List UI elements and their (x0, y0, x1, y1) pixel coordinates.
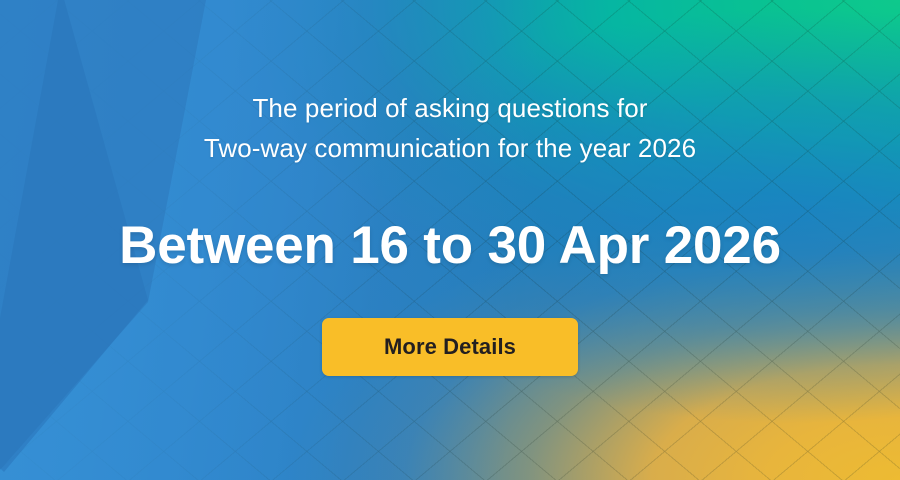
banner-content: The period of asking questions for Two-w… (0, 0, 900, 480)
promo-banner: The period of asking questions for Two-w… (0, 0, 900, 480)
more-details-button[interactable]: More Details (322, 318, 578, 376)
cta-container: More Details (322, 318, 578, 376)
banner-headline: Between 16 to 30 Apr 2026 (119, 216, 781, 276)
subtitle-line-2: Two-way communication for the year 2026 (204, 128, 696, 168)
subtitle-line-1: The period of asking questions for (204, 88, 696, 128)
banner-subtitle: The period of asking questions for Two-w… (204, 88, 696, 168)
